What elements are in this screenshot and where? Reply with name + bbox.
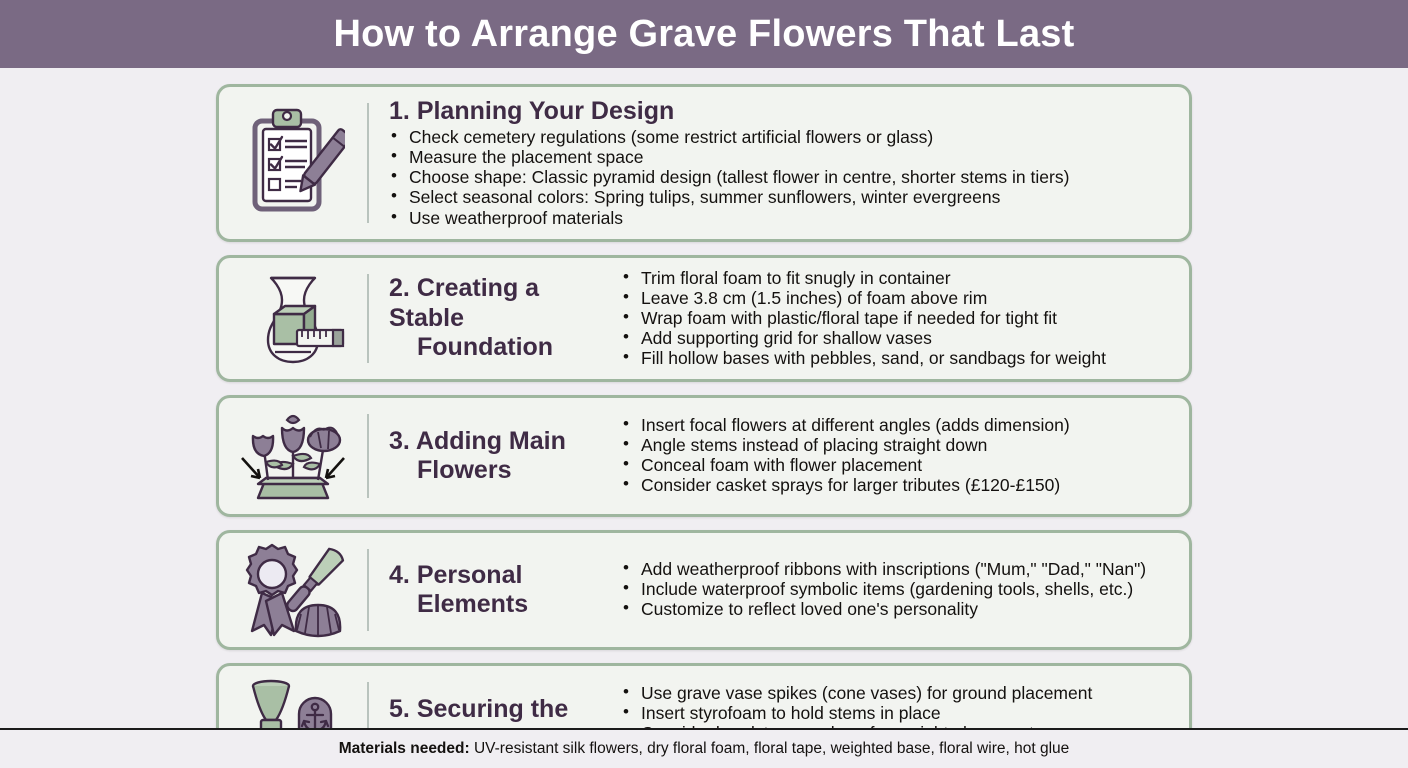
step-content-4: 4. Personal Elements Add weatherproof ri… bbox=[369, 533, 1189, 647]
step-number-5: 5. bbox=[389, 695, 410, 723]
step-bullets-1: Check cemetery regulations (some restric… bbox=[389, 128, 1173, 227]
page-title: How to Arrange Grave Flowers That Last bbox=[333, 15, 1074, 53]
infographic-page: How to Arrange Grave Flowers That Last bbox=[0, 0, 1408, 768]
step-content-1: 1. Planning Your Design Check cemetery r… bbox=[369, 87, 1189, 239]
list-item: Consider casket sprays for larger tribut… bbox=[621, 476, 1173, 495]
step-content-3: 3. Adding Main Flowers Insert focal flow… bbox=[369, 398, 1189, 514]
list-item: Include waterproof symbolic items (garde… bbox=[621, 580, 1173, 599]
list-item: Insert focal flowers at different angles… bbox=[621, 416, 1173, 435]
materials-items: UV-resistant silk flowers, dry floral fo… bbox=[470, 740, 1070, 757]
step-title-text-1: Planning Your Design bbox=[417, 97, 674, 125]
step-title-3: 3. Adding Main Flowers bbox=[389, 427, 609, 486]
vase-foam-icon bbox=[219, 258, 367, 379]
step-card-3[interactable]: 3. Adding Main Flowers Insert focal flow… bbox=[216, 395, 1192, 517]
step-number-4: 4. bbox=[389, 561, 410, 589]
list-item: Check cemetery regulations (some restric… bbox=[389, 128, 1173, 147]
list-item: Use grave vase spikes (cone vases) for g… bbox=[621, 684, 1173, 703]
materials-text: Materials needed: UV-resistant silk flow… bbox=[339, 740, 1070, 758]
step-title-line2-3: Flowers bbox=[389, 456, 609, 485]
clipboard-checklist-icon bbox=[219, 87, 367, 239]
list-item: Select seasonal colors: Spring tulips, s… bbox=[389, 188, 1173, 207]
step-number-3: 3. bbox=[389, 427, 410, 455]
step-number-2: 2. bbox=[389, 274, 410, 302]
list-item: Customize to reflect loved one's persona… bbox=[621, 600, 1173, 619]
step-bullets-2: Trim floral foam to fit snugly in contai… bbox=[621, 269, 1173, 368]
materials-label: Materials needed: bbox=[339, 740, 470, 757]
step-card-1[interactable]: 1. Planning Your Design Check cemetery r… bbox=[216, 84, 1192, 242]
list-item: Add weatherproof ribbons with inscriptio… bbox=[621, 560, 1173, 579]
step-title-line1-4: Personal bbox=[417, 561, 523, 589]
step-card-2[interactable]: 2. Creating a Stable Foundation Trim flo… bbox=[216, 255, 1192, 382]
step-title-line1-2: Creating a Stable bbox=[389, 274, 539, 331]
steps-list: 1. Planning Your Design Check cemetery r… bbox=[216, 84, 1192, 768]
step-title-2: 2. Creating a Stable Foundation bbox=[389, 274, 609, 362]
step-title-line1-5: Securing the bbox=[417, 695, 568, 723]
materials-footer: Materials needed: UV-resistant silk flow… bbox=[0, 728, 1408, 768]
step-bullets-4: Add weatherproof ribbons with inscriptio… bbox=[621, 560, 1173, 619]
list-item: Leave 3.8 cm (1.5 inches) of foam above … bbox=[621, 289, 1173, 308]
list-item: Conceal foam with flower placement bbox=[621, 456, 1173, 475]
list-item: Wrap foam with plastic/floral tape if ne… bbox=[621, 309, 1173, 328]
step-bullets-3: Insert focal flowers at different angles… bbox=[621, 416, 1173, 495]
rosette-trowel-shell-icon bbox=[219, 533, 367, 647]
header-banner: How to Arrange Grave Flowers That Last bbox=[0, 0, 1408, 68]
step-number-1: 1. bbox=[389, 97, 410, 125]
list-item: Use weatherproof materials bbox=[389, 209, 1173, 228]
list-item: Choose shape: Classic pyramid design (ta… bbox=[389, 168, 1173, 187]
list-item: Insert styrofoam to hold stems in place bbox=[621, 704, 1173, 723]
list-item: Add supporting grid for shallow vases bbox=[621, 329, 1173, 348]
list-item: Trim floral foam to fit snugly in contai… bbox=[621, 269, 1173, 288]
step-title-line2-2: Foundation bbox=[389, 333, 609, 362]
step-title-4: 4. Personal Elements bbox=[389, 561, 609, 620]
step-title-1: 1. Planning Your Design bbox=[389, 97, 1173, 126]
list-item: Measure the placement space bbox=[389, 148, 1173, 167]
list-item: Angle stems instead of placing straight … bbox=[621, 436, 1173, 455]
step-title-line1-3: Adding Main bbox=[416, 427, 566, 455]
list-item: Fill hollow bases with pebbles, sand, or… bbox=[621, 349, 1173, 368]
step-content-2: 2. Creating a Stable Foundation Trim flo… bbox=[369, 258, 1189, 379]
step-title-line2-4: Elements bbox=[389, 590, 609, 619]
step-card-4[interactable]: 4. Personal Elements Add weatherproof ri… bbox=[216, 530, 1192, 650]
flowers-in-foam-icon bbox=[219, 398, 367, 514]
